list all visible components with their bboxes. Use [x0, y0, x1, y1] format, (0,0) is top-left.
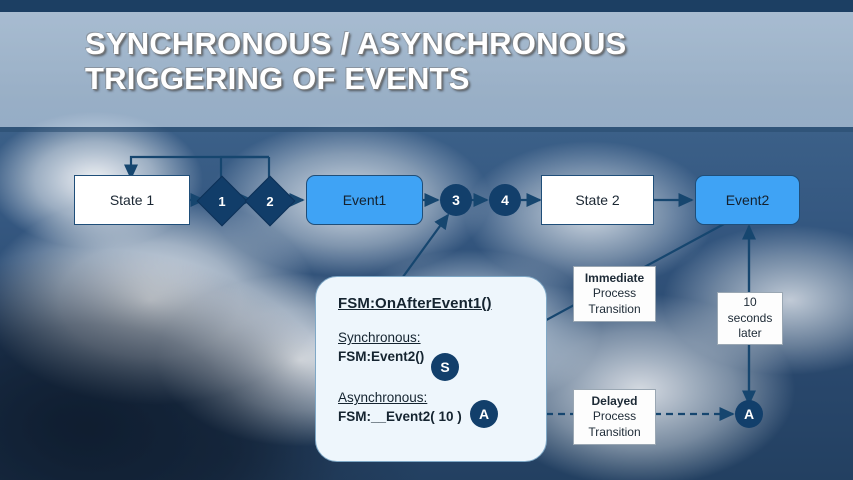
node-state-2-label: State 2: [575, 192, 619, 208]
annotation-timer-line1: 10: [743, 295, 756, 310]
node-event-1[interactable]: Event1: [306, 175, 423, 225]
callout-sync-label: Synchronous:: [338, 328, 546, 347]
callout-async-code: FSM:__Event2( 10 ): [338, 407, 546, 426]
node-event-2-label: Event2: [726, 192, 770, 208]
async-target-badge-a[interactable]: A: [735, 400, 763, 428]
sync-badge-s-label: S: [440, 359, 449, 375]
sync-badge-s[interactable]: S: [431, 353, 459, 381]
node-circle-4-label: 4: [501, 192, 509, 208]
async-target-badge-a-label: A: [744, 406, 754, 422]
annotation-delayed-line2: Process: [593, 409, 636, 424]
annotation-timer: 10 seconds later: [717, 292, 783, 345]
callout-header: FSM:OnAfterEvent1(): [338, 295, 546, 312]
node-diamond-1-label: 1: [205, 184, 239, 218]
annotation-immediate-line2: Process: [593, 286, 636, 301]
node-circle-4[interactable]: 4: [489, 184, 521, 216]
connector-feedback-from-1: [221, 157, 269, 183]
annotation-delayed-line3: Transition: [588, 425, 640, 440]
node-diamond-2-label: 2: [253, 184, 287, 218]
node-state-2[interactable]: State 2: [541, 175, 654, 225]
annotation-delayed-title: Delayed: [591, 394, 637, 409]
node-state-1-label: State 1: [110, 192, 154, 208]
node-circle-3-label: 3: [452, 192, 460, 208]
annotation-immediate-line3: Transition: [588, 302, 640, 317]
async-badge-a[interactable]: A: [470, 400, 498, 428]
node-event-2[interactable]: Event2: [695, 175, 800, 225]
node-state-1[interactable]: State 1: [74, 175, 190, 225]
node-circle-3[interactable]: 3: [440, 184, 472, 216]
callout-async-label: Asynchronous:: [338, 388, 546, 407]
slide-canvas: SYNCHRONOUS / ASYNCHRONOUS TRIGGERING OF…: [0, 0, 853, 480]
annotation-immediate: Immediate Process Transition: [573, 266, 656, 322]
annotation-timer-line2: seconds: [728, 311, 773, 326]
async-badge-a-label: A: [479, 406, 489, 422]
annotation-immediate-title: Immediate: [585, 271, 644, 286]
node-event-1-label: Event1: [343, 192, 387, 208]
annotation-timer-line3: later: [738, 326, 761, 341]
callout-async-group: Asynchronous: FSM:__Event2( 10 ): [338, 388, 546, 426]
annotation-delayed: Delayed Process Transition: [573, 389, 656, 445]
